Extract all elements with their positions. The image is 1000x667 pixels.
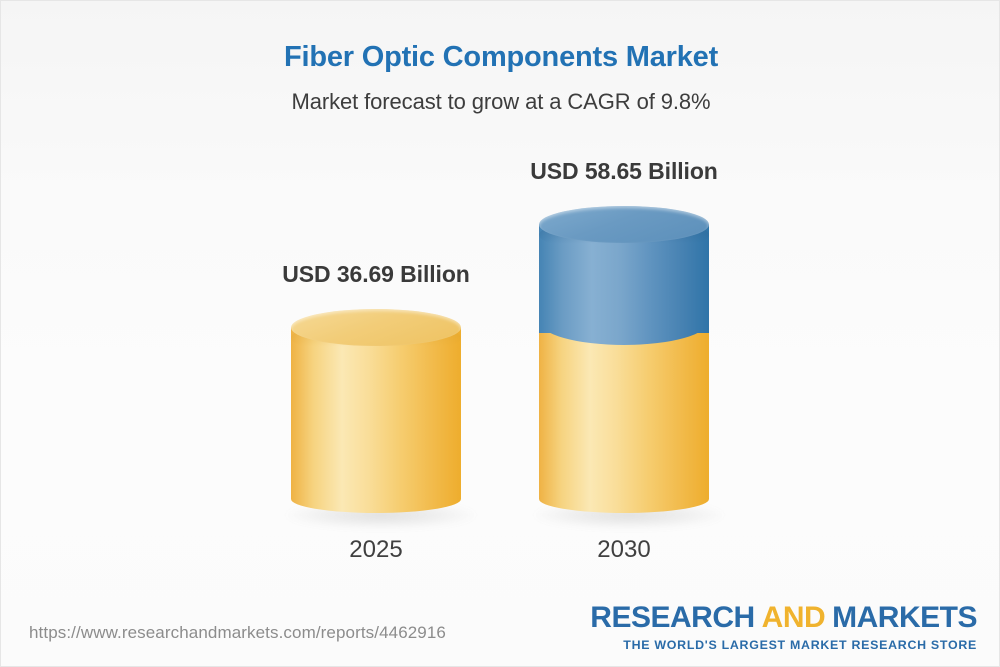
value-label-2025: USD 36.69 Billion	[276, 261, 476, 288]
cylinder-segment-yellow-2030	[539, 333, 709, 513]
bar-group-2030: USD 58.65 Billion 2030	[524, 158, 724, 561]
logo-word-research: RESEARCH	[590, 601, 754, 634]
logo-wordmark: RESEARCHANDMARKETS	[590, 603, 977, 634]
value-label-2030: USD 58.65 Billion	[524, 158, 724, 185]
source-url[interactable]: https://www.researchandmarkets.com/repor…	[29, 623, 446, 643]
infographic-canvas: Fiber Optic Components Market Market for…	[0, 0, 1000, 667]
cylinder-top-rim-2030	[539, 206, 709, 243]
bar-group-2025: USD 36.69 Billion 2025	[276, 261, 476, 561]
logo-word-and: AND	[755, 601, 833, 634]
logo-tagline: THE WORLD'S LARGEST MARKET RESEARCH STOR…	[590, 634, 977, 652]
chart-plot-area: USD 36.69 Billion 2025 USD 58.65 Billion	[1, 1, 1000, 667]
logo-word-markets: MARKETS	[832, 601, 977, 634]
brand-logo: RESEARCHANDMARKETS THE WORLD'S LARGEST M…	[590, 603, 977, 652]
cylinder-top-rim-2025	[291, 309, 461, 346]
category-label-2030: 2030	[524, 536, 724, 564]
category-label-2025: 2025	[276, 536, 476, 564]
